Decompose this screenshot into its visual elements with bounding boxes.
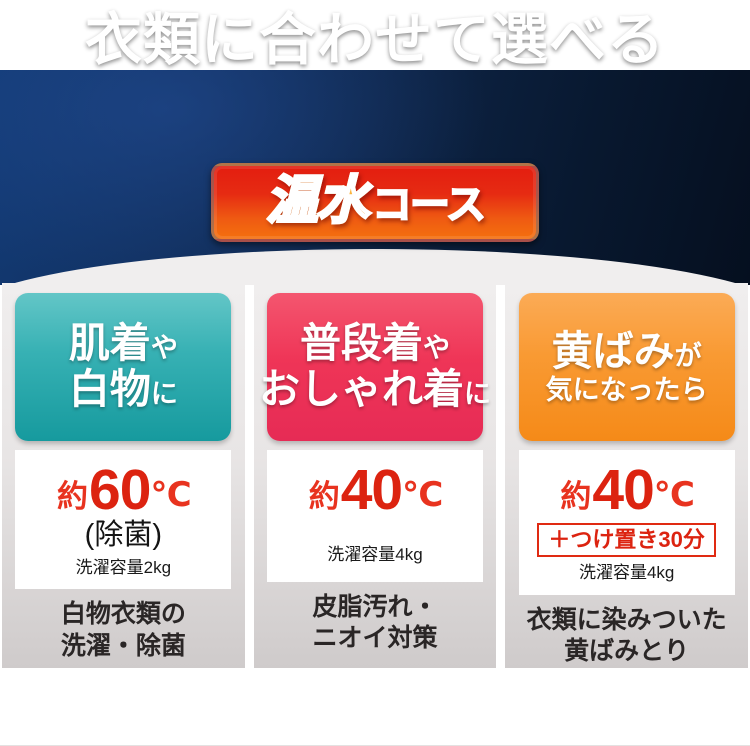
card-header-line1-particle: や [423,333,450,363]
card-footer-line-2: 黄ばみとり [527,636,727,667]
card-footer-yellowing: 衣類に染みついた 黄ばみとり [527,605,727,668]
card-footer-line-1: 白物衣類の [61,599,186,630]
card-footer-line-1: 衣類に染みついた [527,605,727,636]
temperature-readout: 約 40 ℃ [560,462,693,519]
card-header-line2-particle: に [151,379,178,409]
wash-capacity-label: 洗濯容量4kg [327,545,422,565]
card-header-line-1: 普段着 や [300,321,450,367]
course-card-list: 肌着 や 白物 に 約 60 ℃ (除菌) 洗濯容量2kg 白物衣類の [0,283,750,668]
temperature-unit: ℃ [654,478,693,512]
card-footer-line-2: ニオイ対策 [313,623,438,654]
card-footer-line-1: 皮脂汚れ・ [313,592,438,623]
temperature-value: 40 [341,462,402,519]
course-badge: 温水 コース [211,163,539,242]
card-header-line-2: おしゃれ着 に [259,367,491,413]
page-title: 衣類に合わせて選べる [0,11,750,71]
card-detail-panel-everyday: 約 40 ℃ 洗濯容量4kg [267,450,483,582]
temperature-value: 60 [89,462,150,519]
card-header-line2-main: 白物 [69,367,151,413]
card-detail-panel-sterilize: 約 60 ℃ (除菌) 洗濯容量2kg [15,450,231,589]
card-header-line1-particle: が [675,341,702,371]
course-card-sterilize: 肌着 や 白物 に 約 60 ℃ (除菌) 洗濯容量2kg 白物衣類の [2,283,245,668]
card-header-line1-main: 黄ばみ [552,329,675,375]
card-header-everyday: 普段着 や おしゃれ着 に [267,293,483,441]
card-header-line-2: 白物 に [69,367,178,413]
panel-subtitle: (除菌) [85,520,162,552]
card-header-line-2: 気になったら [546,375,708,405]
card-header-line2-main: おしゃれ着 [259,367,464,413]
course-card-everyday: 普段着 や おしゃれ着 に 約 40 ℃ 洗濯容量4kg 皮脂汚れ・ ニオイ対策 [254,283,497,668]
card-header-line1-main: 普段着 [300,321,423,367]
card-header-sterilize: 肌着 や 白物 に [15,293,231,441]
temperature-readout: 約 60 ℃ [57,462,190,519]
card-header-line1-main: 肌着 [69,321,151,367]
course-card-yellowing: 黄ばみ が 気になったら 約 40 ℃ ＋つけ置き30分 洗濯容量4kg 衣類に… [505,283,748,668]
card-detail-panel-yellowing: 約 40 ℃ ＋つけ置き30分 洗濯容量4kg [519,450,735,595]
temperature-unit: ℃ [402,478,441,512]
card-header-line-1: 肌着 や [69,321,178,367]
card-header-line2-main: 気になったら [546,375,708,405]
wash-capacity-label: 洗濯容量4kg [579,563,674,583]
temperature-prefix: 約 [309,481,340,512]
temperature-unit: ℃ [150,478,189,512]
course-badge-primary-label: 温水 [266,175,368,227]
card-header-line1-particle: や [151,333,178,363]
temperature-prefix: 約 [57,481,88,512]
card-footer-everyday: 皮脂汚れ・ ニオイ対策 [313,592,438,655]
temperature-readout: 約 40 ℃ [309,462,442,519]
card-header-line2-particle: に [464,379,491,409]
wash-capacity-label: 洗濯容量2kg [76,558,171,578]
card-header-yellowing: 黄ばみ が 気になったら [519,293,735,441]
temperature-prefix: 約 [560,481,591,512]
card-header-line-1: 黄ばみ が [552,329,702,375]
card-footer-sterilize: 白物衣類の 洗濯・除菌 [61,599,186,662]
course-badge-text: 温水 コース [266,175,484,227]
promo-banner-page: 衣類に合わせて選べる 温水 コース 肌着 や 白物 に 約 [0,0,750,746]
soak-time-badge: ＋つけ置き30分 [537,523,715,557]
temperature-value: 40 [592,462,653,519]
course-badge-secondary-label: コース [372,185,484,225]
card-footer-line-2: 洗濯・除菌 [61,631,186,662]
